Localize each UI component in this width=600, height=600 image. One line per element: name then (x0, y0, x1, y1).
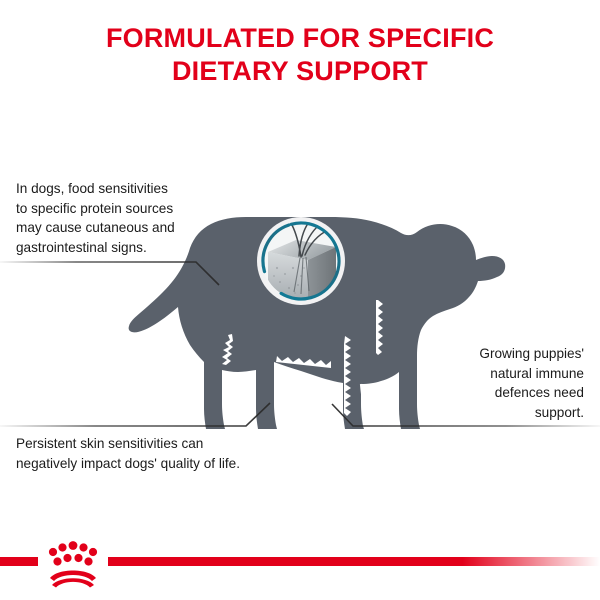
brand-footer (0, 520, 600, 600)
callout-skin-quality-of-life: Persistent skin sensitivities can negati… (16, 434, 240, 473)
callout-line: In dogs, food sensitivities (16, 179, 175, 199)
callout-line: defences need (479, 383, 584, 403)
callout-line: Growing puppies' (479, 344, 584, 364)
callout-line: may cause cutaneous and (16, 218, 175, 238)
callout-line: to specific protein sources (16, 199, 175, 219)
callout-immune-defences: Growing puppies' natural immune defences… (479, 344, 584, 422)
brand-bar-left (0, 557, 38, 566)
callout-line: negatively impact dogs' quality of life. (16, 454, 240, 474)
illustration-puppy-with-skin-detail (0, 0, 600, 600)
brand-bar-right (108, 557, 600, 566)
callout-line: gastrointestinal signs. (16, 238, 175, 258)
callout-line: support. (479, 403, 584, 423)
callout-food-sensitivities: In dogs, food sensitivities to specific … (16, 179, 175, 257)
infographic-page: FORMULATED FOR SPECIFIC DIETARY SUPPORT (0, 0, 600, 600)
callout-line: natural immune (479, 364, 584, 384)
royal-canin-crown-icon (49, 541, 97, 587)
callout-line: Persistent skin sensitivities can (16, 434, 240, 454)
